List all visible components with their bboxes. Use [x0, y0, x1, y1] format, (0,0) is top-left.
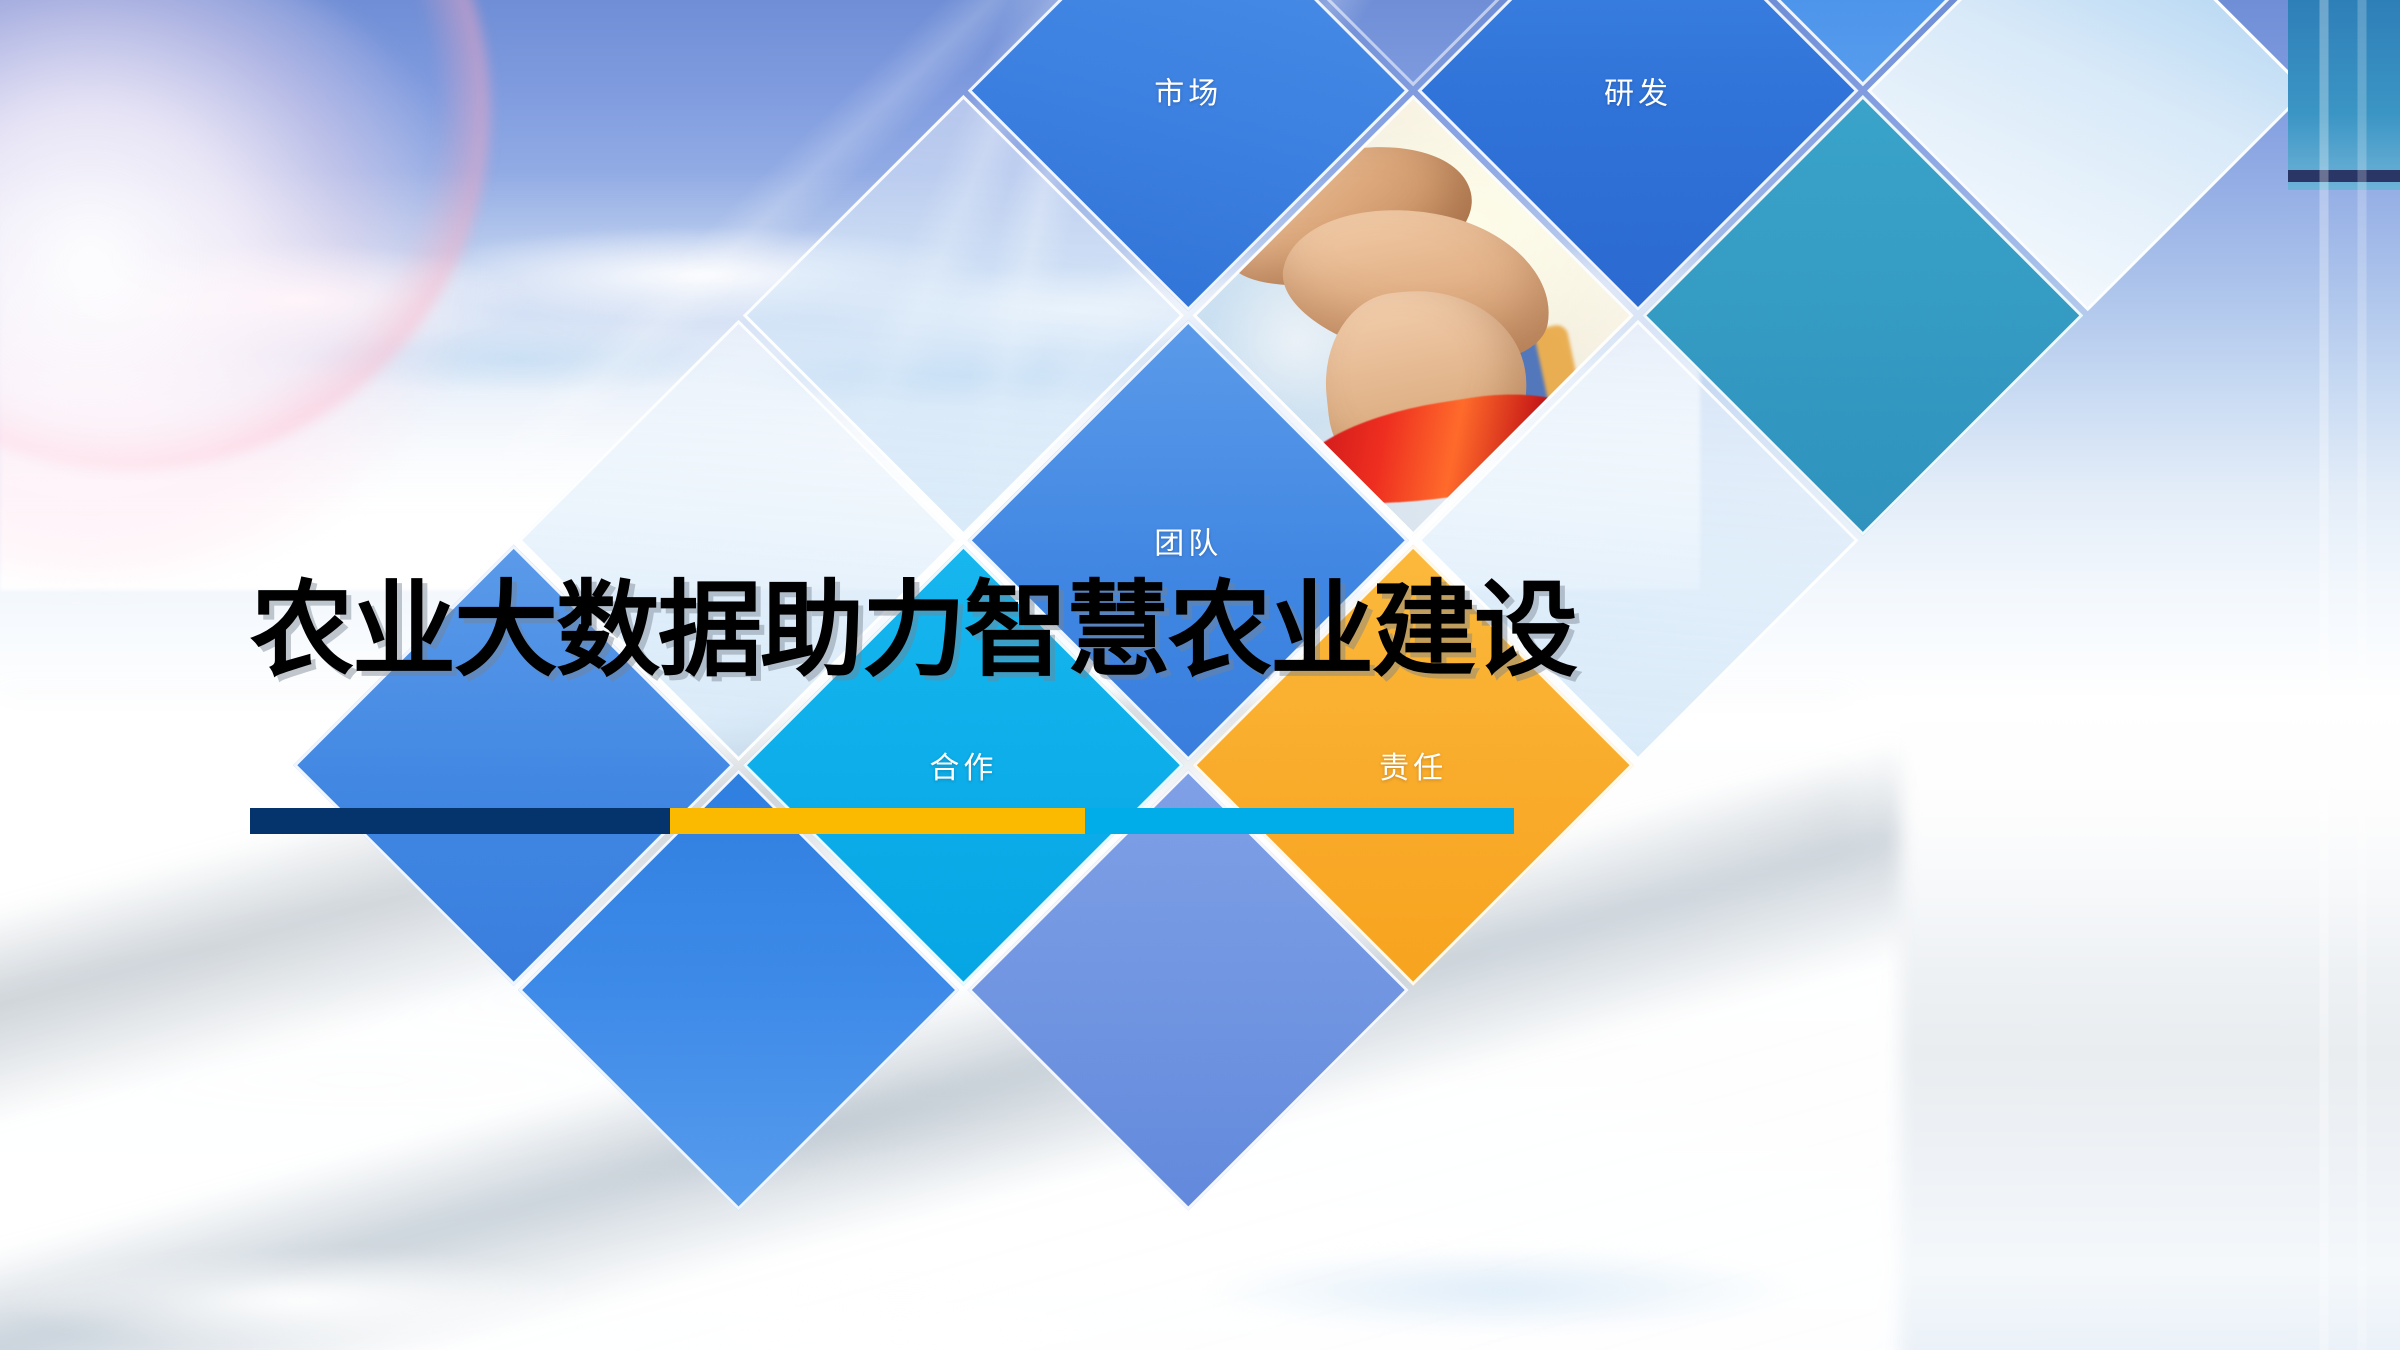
right-edge-top-band: [2288, 0, 2400, 190]
accent-bar: [250, 808, 1514, 834]
title-block: 农业大数据助力智慧农业建设: [250, 575, 1570, 685]
diamond-label-rnd: 研发: [1485, 69, 1791, 113]
accent-bar-segment-navy: [250, 808, 670, 834]
page-title: 农业大数据助力智慧农业建设: [250, 575, 1570, 685]
diamond-label-cooperation: 合作: [810, 743, 1116, 787]
accent-bar-segment-cyan: [1085, 808, 1513, 834]
diamond-label-team: 团队: [1035, 518, 1341, 562]
presentation-slide: 战略 研发 市场 团队: [0, 0, 2400, 1350]
right-edge-divider: [2288, 170, 2400, 182]
diamond-label-responsibility: 责任: [1260, 743, 1566, 787]
diamond-label-market: 市场: [1035, 69, 1341, 113]
accent-bar-segment-amber: [670, 808, 1086, 834]
